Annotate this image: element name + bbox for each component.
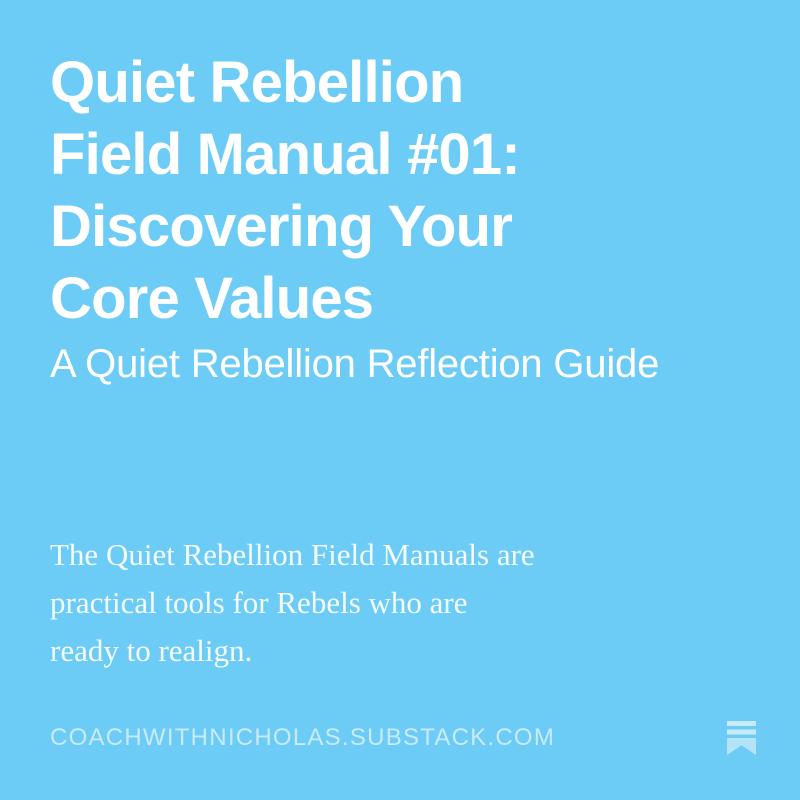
body-paragraph: The Quiet Rebellion Field Manuals are pr… xyxy=(50,531,710,675)
page-title: Quiet Rebellion Field Manual #01: Discov… xyxy=(50,47,750,335)
social-card: Quiet Rebellion Field Manual #01: Discov… xyxy=(0,0,800,800)
page-subtitle: A Quiet Rebellion Reflection Guide xyxy=(50,340,750,388)
footer-url: COACHWITHNICHOLAS.SUBSTACK.COM xyxy=(50,724,555,752)
substack-logo-icon xyxy=(727,721,756,755)
hero-text-block: Quiet Rebellion Field Manual #01: Discov… xyxy=(50,47,750,388)
card-footer: COACHWITHNICHOLAS.SUBSTACK.COM xyxy=(50,720,756,756)
